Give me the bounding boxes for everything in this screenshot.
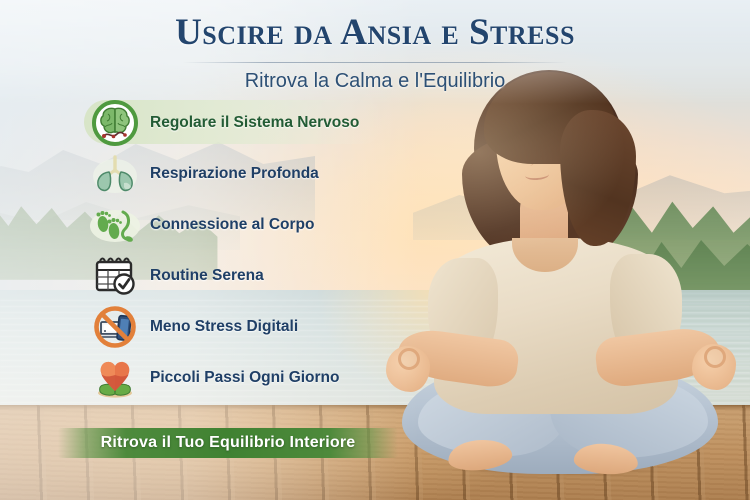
footprints-icon [88,201,142,249]
bottom-banner: Ritrova il Tuo Equilibrio Interiore [58,428,398,458]
list-item: Regolare il Sistema Nervoso [88,97,418,148]
list-item: Piccoli Passi Ogni Giorno [88,352,418,403]
list-item-label: Routine Serena [150,267,264,285]
page-subtitle: Ritrova la Calma e l'Equilibrio [0,70,750,93]
list-item-label: Respirazione Profonda [150,165,319,183]
list-item: Connessione al Corpo [88,199,418,250]
title-block: Uscire da Ansia e Stress Ritrova la Calm… [0,14,750,93]
meditating-woman [392,62,750,462]
list-item-label: Piccoli Passi Ogni Giorno [150,369,340,387]
list-item-label: Meno Stress Digitali [150,318,298,336]
feature-list: Regolare il Sistema Nervoso Respirazione… [88,97,418,403]
calendar-check-icon [88,252,142,300]
list-item: Respirazione Profonda [88,148,418,199]
brain-icon [88,99,142,147]
list-item-label: Connessione al Corpo [150,216,315,234]
list-item: Routine Serena [88,250,418,301]
list-item-label: Regolare il Sistema Nervoso [150,114,359,132]
title-divider [183,62,567,63]
no-devices-icon [88,303,142,351]
banner-text: Ritrova il Tuo Equilibrio Interiore [101,434,356,452]
list-item: Meno Stress Digitali [88,301,418,352]
poster-canvas: Uscire da Ansia e Stress Ritrova la Calm… [0,0,750,500]
page-title: Uscire da Ansia e Stress [0,14,750,53]
lungs-icon [88,150,142,198]
mudra-circle-right [704,346,726,368]
heart-leaves-icon [88,354,142,402]
